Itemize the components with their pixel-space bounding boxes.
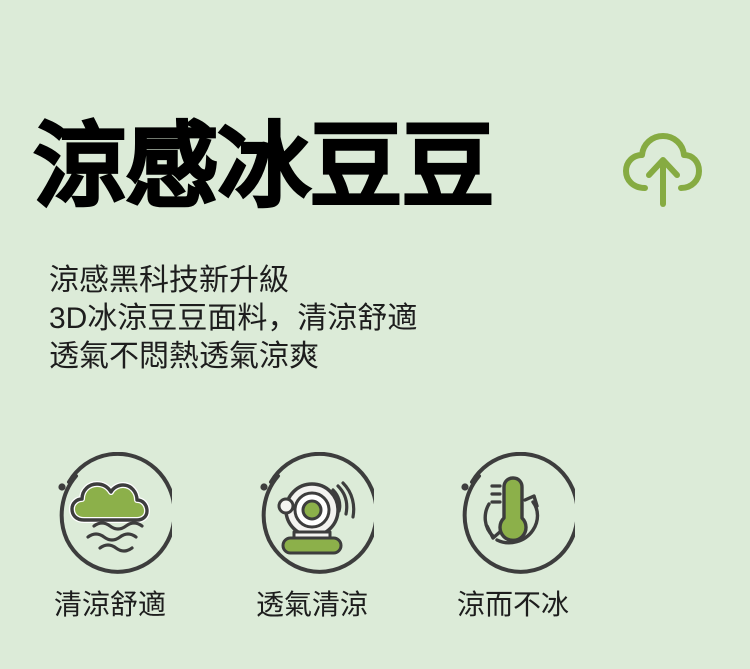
feature-label: 清涼舒適 <box>20 588 200 622</box>
cloud-breeze-icon <box>48 452 172 576</box>
feature-label: 涼而不冰 <box>423 588 603 622</box>
subtitle-line-1: 涼感黑科技新升級 <box>49 262 649 300</box>
feature-list: 清涼舒適 透氣清涼 <box>0 452 750 642</box>
feature-label: 透氣清涼 <box>222 588 402 622</box>
product-feature-banner: 涼感冰豆豆 涼感黑科技新升級 3D冰涼豆豆面料，清涼舒適 透氣不悶熱透氣涼爽 <box>0 0 750 669</box>
feature-item-cool-not-cold: 涼而不冰 <box>423 452 603 622</box>
title-row: 涼感冰豆豆 <box>0 108 750 233</box>
cloud-upload-icon <box>619 130 705 210</box>
feature-item-cooling-comfort: 清涼舒適 <box>20 452 200 622</box>
subtitle-block: 涼感黑科技新升級 3D冰涼豆豆面料，清涼舒適 透氣不悶熱透氣涼爽 <box>49 262 649 376</box>
thermometer-cycle-icon <box>451 452 575 576</box>
subtitle-line-3: 透氣不悶熱透氣涼爽 <box>49 338 649 376</box>
fan-blower-icon <box>250 452 374 576</box>
feature-item-breathable-cool: 透氣清涼 <box>222 452 402 622</box>
subtitle-line-2: 3D冰涼豆豆面料，清涼舒適 <box>49 300 649 338</box>
page-title: 涼感冰豆豆 <box>34 108 494 226</box>
